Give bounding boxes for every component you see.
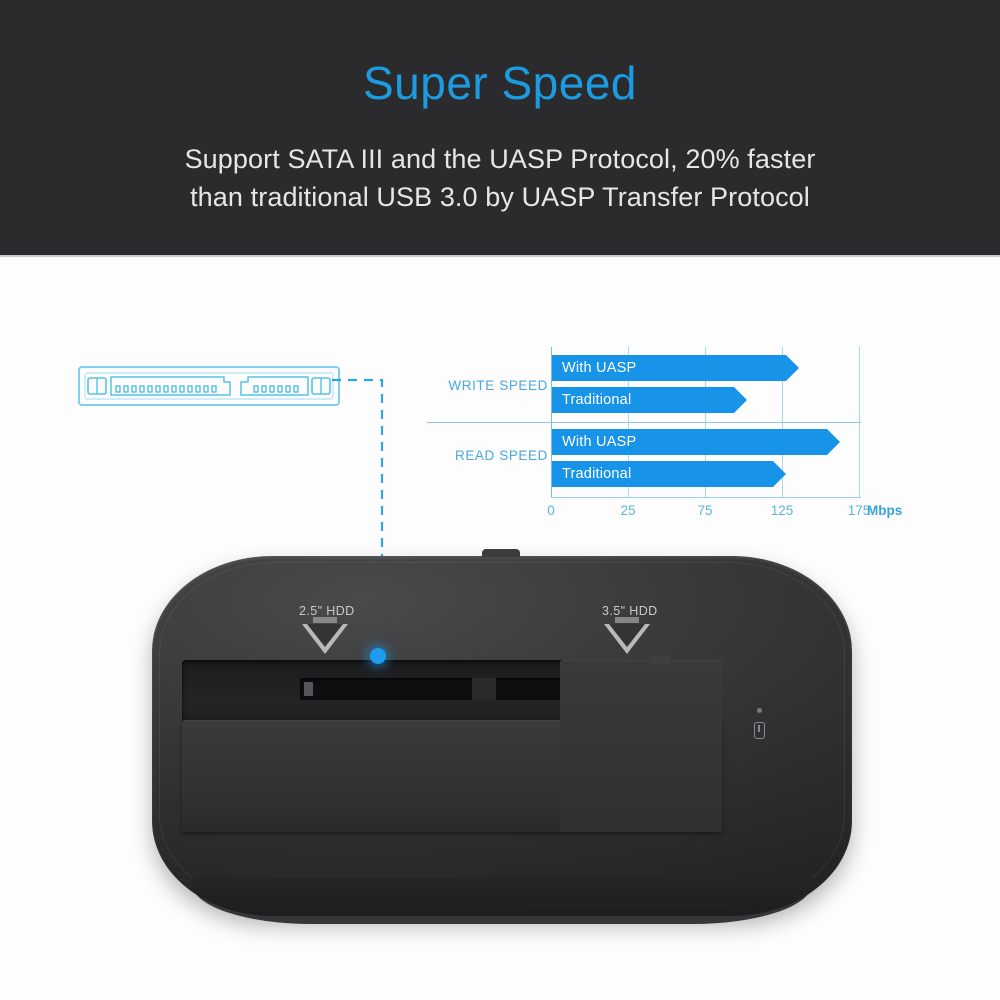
- hdd-docking-station: 2.5" HDD 3.5" HDD: [152, 556, 852, 926]
- row-label-read-speed: READ SPEED: [432, 448, 548, 463]
- tick-label-0: 0: [547, 503, 555, 518]
- bar-write-with-uasp: With UASP: [552, 355, 786, 381]
- power-indicator-icon: [754, 722, 765, 739]
- led-indicator: [757, 708, 762, 713]
- bar-label-write-traditional: Traditional: [562, 392, 631, 408]
- bar-read-traditional: Traditional: [552, 461, 773, 487]
- bar-label-read-with-uasp: With UASP: [562, 434, 636, 450]
- axis-unit-label: Mbps: [867, 503, 902, 518]
- bar-write-traditional: Traditional: [552, 387, 734, 413]
- page-subtitle: Support SATA III and the UASP Protocol, …: [0, 140, 1000, 216]
- dock-right-panel: [560, 660, 722, 832]
- bar-tip: [827, 429, 840, 455]
- bar-tip: [773, 461, 786, 487]
- connector-link-dot: [370, 648, 386, 664]
- insert-arrow-3-5-icon: [604, 624, 650, 654]
- chart-baseline: [551, 497, 861, 498]
- label-3-5-hdd: 3.5" HDD: [602, 604, 658, 618]
- chart-plot-area: With UASP Traditional With UASP Traditio…: [551, 347, 861, 497]
- chart-row-labels: WRITE SPEED READ SPEED: [432, 336, 548, 486]
- slot-pin-left: [304, 682, 313, 696]
- sata-connector-illustration: [78, 366, 340, 411]
- slot-notch: [472, 678, 496, 700]
- bar-label-read-traditional: Traditional: [562, 466, 631, 482]
- bar-tip: [786, 355, 799, 381]
- header-band: Super Speed Support SATA III and the UAS…: [0, 0, 1000, 255]
- row-label-write-speed: WRITE SPEED: [432, 378, 548, 393]
- bar-label-write-with-uasp: With UASP: [562, 360, 636, 376]
- insert-arrow-2-5-icon: [302, 624, 348, 654]
- subtitle-line-1: Support SATA III and the UASP Protocol, …: [185, 144, 816, 174]
- product-marketing-image: Super Speed Support SATA III and the UAS…: [0, 0, 1000, 1000]
- dock-body: 2.5" HDD 3.5" HDD: [152, 556, 852, 916]
- subtitle-line-2: than traditional USB 3.0 by UASP Transfe…: [0, 178, 1000, 216]
- tick-label-25: 25: [620, 503, 635, 518]
- label-2-5-hdd: 2.5" HDD: [299, 604, 355, 618]
- header-divider: [0, 255, 1000, 257]
- group-separator: [427, 422, 861, 423]
- tick-label-125: 125: [771, 503, 794, 518]
- dock-top-nub: [482, 549, 520, 557]
- speed-comparison-chart: WRITE SPEED READ SPEED With UASP Traditi…: [432, 336, 900, 526]
- dock-panel-tab: [652, 656, 670, 664]
- page-title: Super Speed: [0, 56, 1000, 110]
- bar-tip: [734, 387, 747, 413]
- dock-bottom-rim: [192, 878, 812, 924]
- tick-label-75: 75: [697, 503, 712, 518]
- bar-read-with-uasp: With UASP: [552, 429, 827, 455]
